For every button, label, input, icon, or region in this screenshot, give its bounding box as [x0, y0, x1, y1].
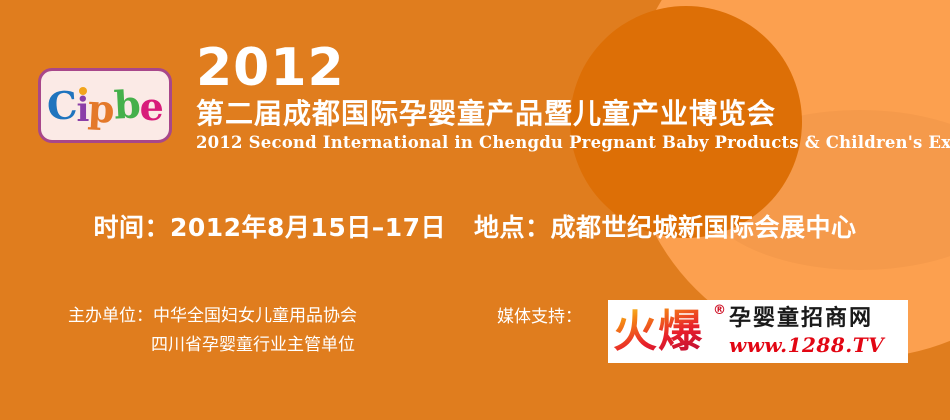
logo-letter-p: p [87, 89, 115, 128]
event-title-chinese: 第二届成都国际孕婴童产品暨儿童产业博览会 [196, 97, 950, 131]
venue-value: 成都世纪城新国际会展中心 [551, 213, 857, 242]
registered-trademark-icon: ® [713, 304, 727, 318]
date-venue-line: 时间：2012年8月15日–17日地点：成都世纪城新国际会展中心 [0, 212, 950, 244]
organizer-label: 主办单位： [68, 306, 153, 326]
time-value: 2012年8月15日–17日 [170, 213, 446, 242]
media-logo-text-block: 孕婴童招商网 www.1288.TV [719, 306, 908, 357]
time-label: 时间： [93, 213, 170, 242]
logo-letter-b: b [113, 85, 141, 124]
media-partner-logo[interactable]: 火爆 ® 孕婴童招商网 www.1288.TV [608, 300, 908, 363]
venue-label: 地点： [474, 213, 551, 242]
event-year: 2012 [196, 42, 950, 94]
footer-row: 主办单位：中华全国妇女儿童用品协会 四川省孕婴童行业主管单位 媒体支持： 火爆 … [0, 300, 950, 380]
media-logo-url: www.1288.TV [729, 333, 902, 357]
event-banner: Cipbe 2012 第二届成都国际孕婴童产品暨儿童产业博览会 2012 Sec… [0, 0, 950, 420]
organizer-name-1: 中华全国妇女儿童用品协会 [153, 306, 357, 326]
media-logo-site-name: 孕婴童招商网 [729, 306, 902, 332]
headline-block: 2012 第二届成都国际孕婴童产品暨儿童产业博览会 2012 Second In… [196, 42, 950, 153]
logo-letter-e: e [140, 88, 163, 126]
logo-letter-c: C [46, 86, 78, 126]
organizer-block: 主办单位：中华全国妇女儿童用品协会 四川省孕婴童行业主管单位 [68, 302, 357, 360]
media-support-label: 媒体支持： [497, 304, 582, 330]
media-logo-flame-glyphs: 火爆 [613, 306, 703, 357]
cipbe-logo-wordmark: Cipbe [47, 87, 163, 125]
cipbe-logo: Cipbe [38, 68, 172, 143]
logo-letter-i-dot [79, 87, 87, 95]
event-title-english: 2012 Second International in Chengdu Pre… [196, 133, 950, 153]
media-logo-flame-text: 火爆 ® [613, 304, 719, 359]
organizer-name-2: 四川省孕婴童行业主管单位 [68, 331, 357, 360]
